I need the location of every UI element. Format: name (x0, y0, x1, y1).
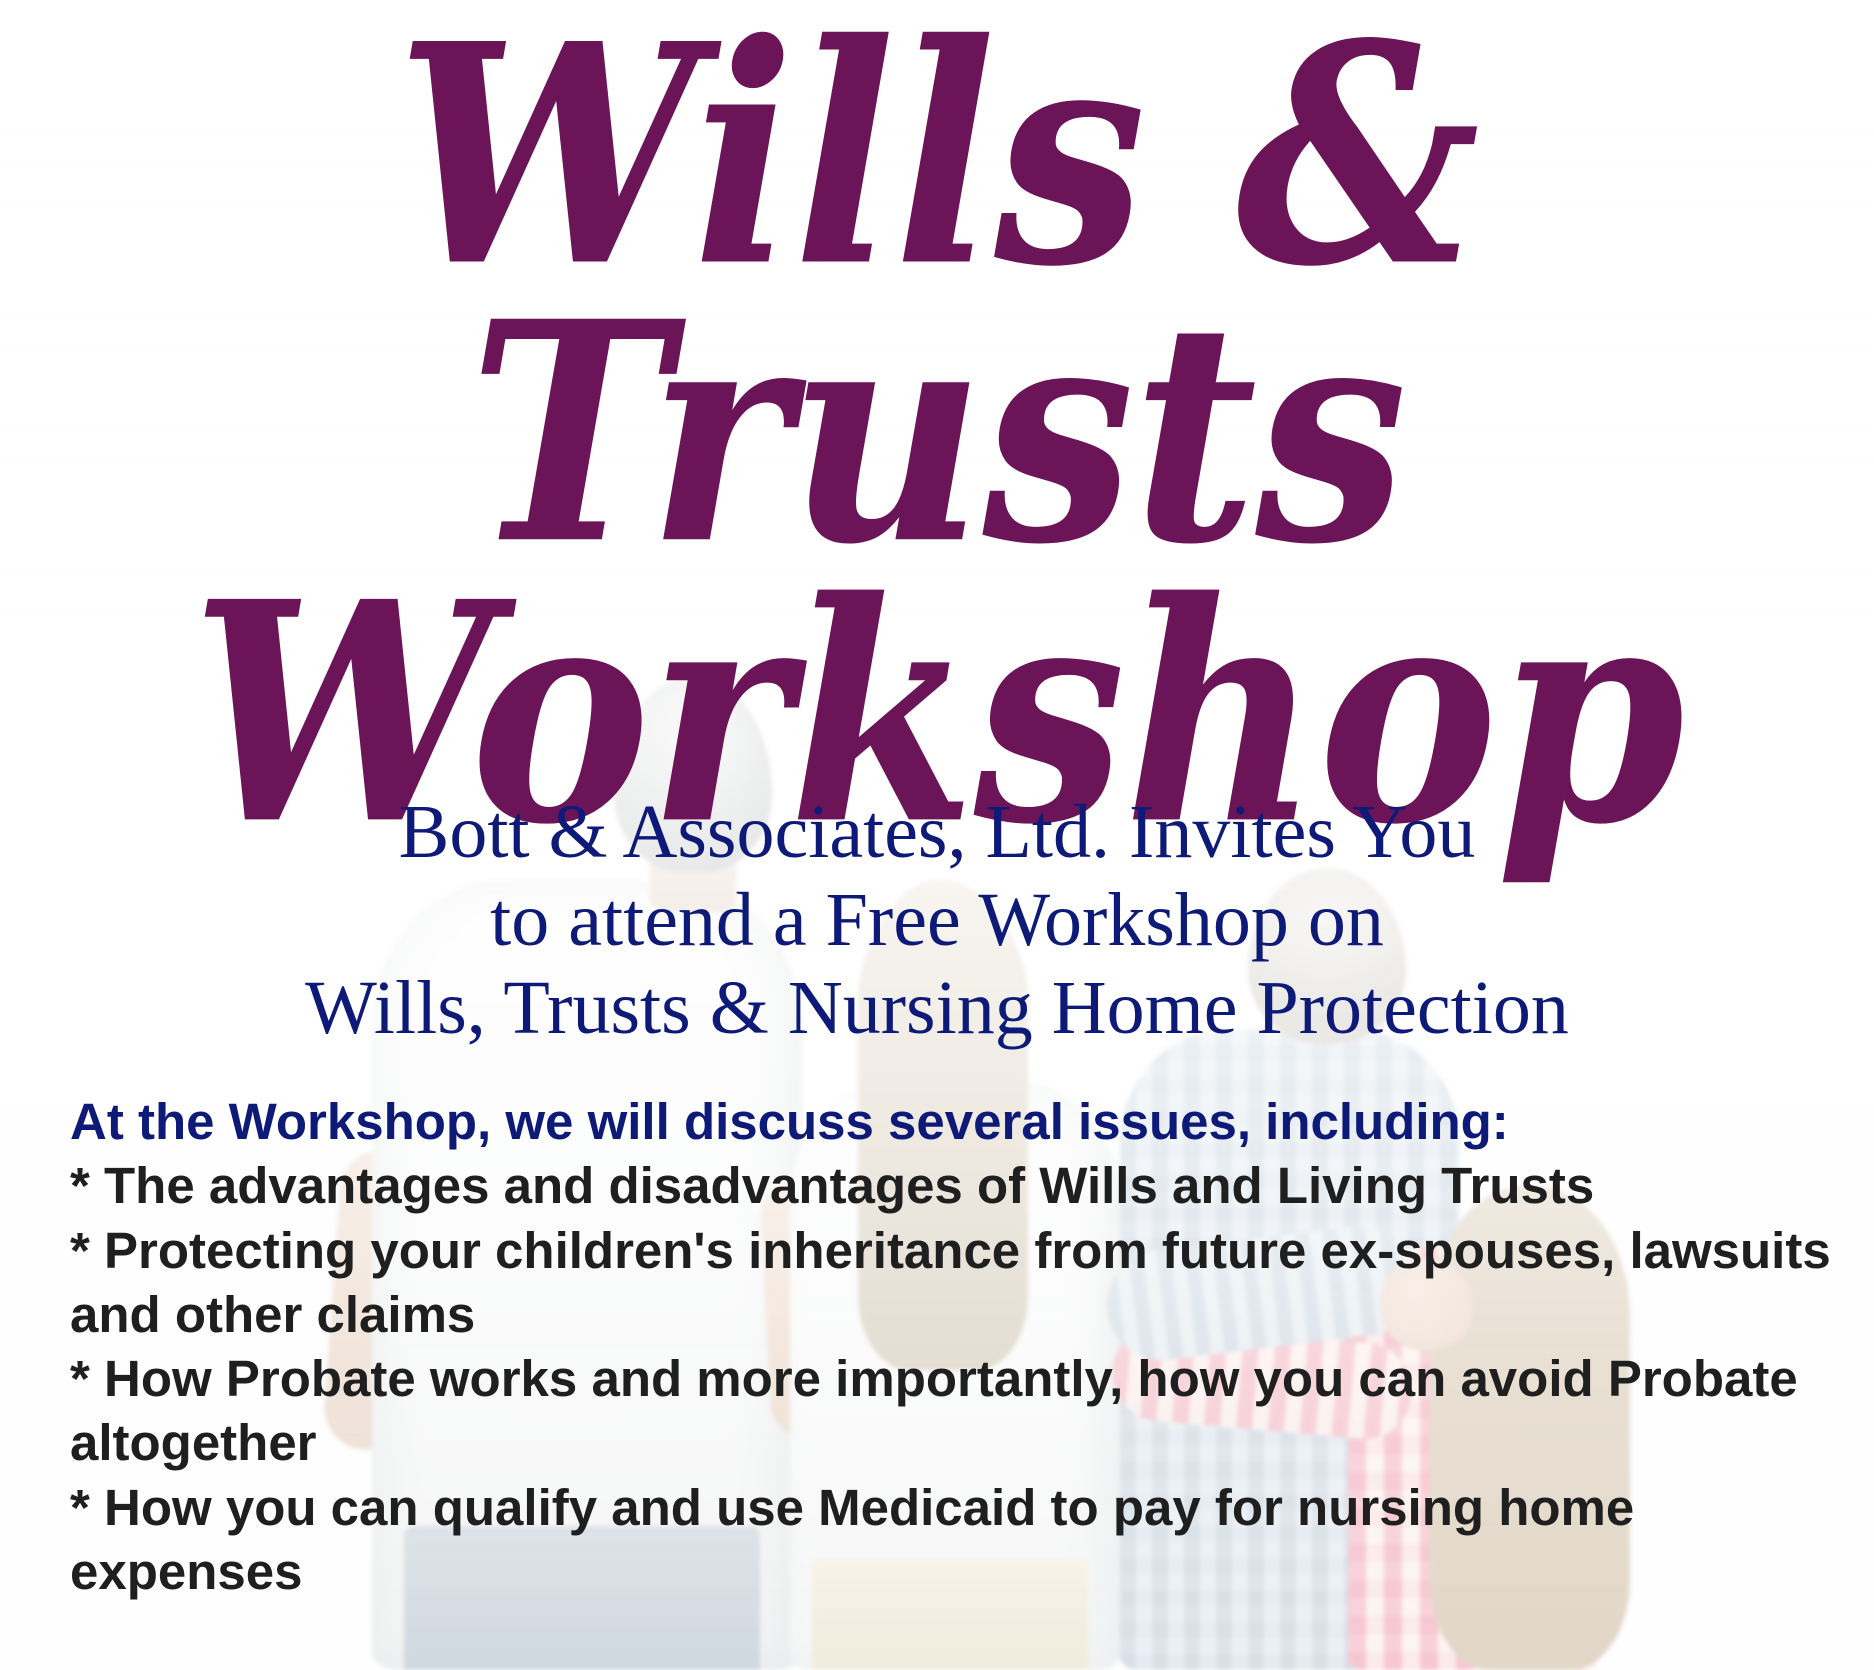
topics-list: At the Workshop, we will discuss several… (70, 1090, 1838, 1604)
invite-line-2: to attend a Free Workshop on (0, 876, 1874, 964)
invite-line-1: Bott & Associates, Ltd. Invites You (0, 788, 1874, 876)
workshop-flyer: Wills & Trusts Workshop Bott & Associate… (0, 0, 1874, 1670)
title-line-1: Wills & Trusts (0, 16, 1874, 572)
invitation-block: Bott & Associates, Ltd. Invites You to a… (0, 788, 1874, 1052)
list-item: * The advantages and disadvantages of Wi… (70, 1154, 1838, 1218)
list-item: * How Probate works and more importantly… (70, 1347, 1838, 1476)
page-title: Wills & Trusts Workshop (0, 46, 1874, 837)
list-item: * How you can qualify and use Medicaid t… (70, 1476, 1838, 1605)
flyer-content: Wills & Trusts Workshop Bott & Associate… (0, 0, 1874, 1670)
invite-line-3: Wills, Trusts & Nursing Home Protection (0, 964, 1874, 1052)
topics-lead-in: At the Workshop, we will discuss several… (70, 1090, 1838, 1154)
list-item: * Protecting your children's inheritance… (70, 1219, 1838, 1348)
